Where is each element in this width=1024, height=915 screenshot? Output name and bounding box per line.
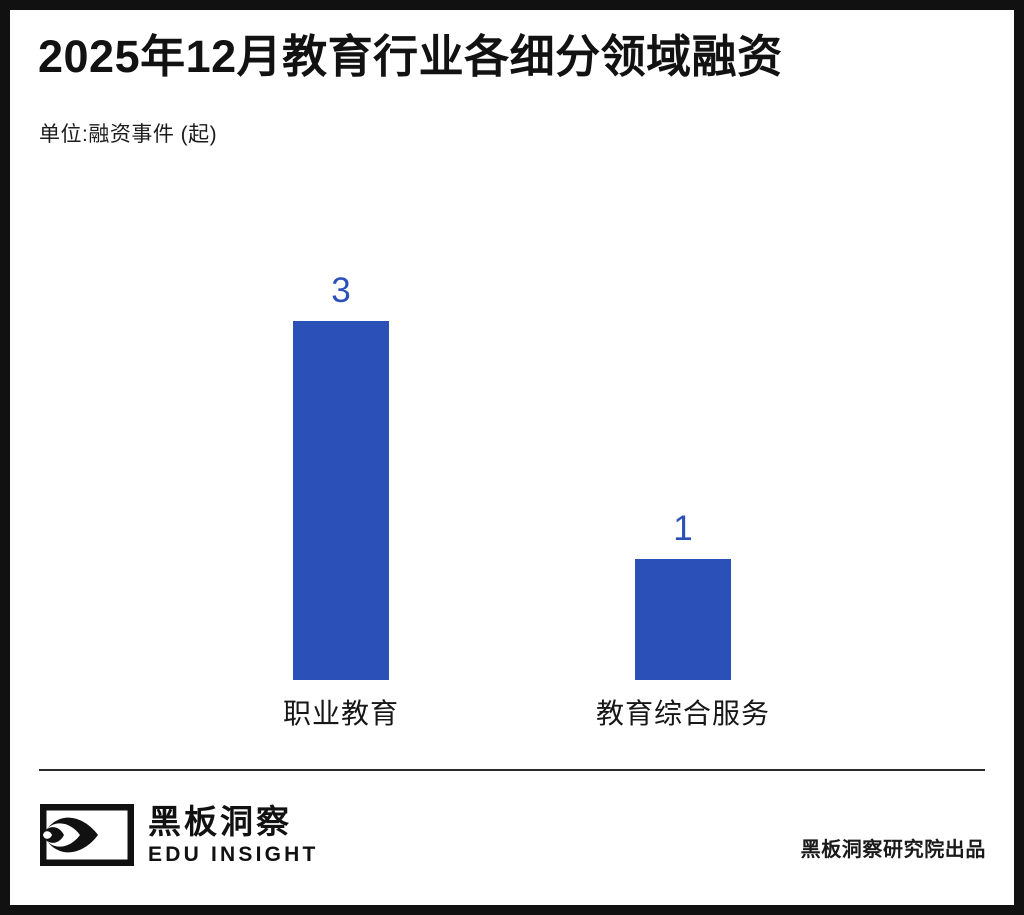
bar-value-label: 3 — [293, 273, 389, 308]
bar-rect — [635, 559, 731, 680]
bar-value-label: 1 — [635, 511, 731, 546]
bar-chart-plot-area: 3 职业教育 1 教育综合服务 — [10, 170, 1014, 680]
brand-name-cn: 黑板洞察 — [148, 803, 319, 842]
eye-in-rectangle-logo-icon — [40, 804, 134, 866]
brand-text: 黑板洞察 EDU INSIGHT — [148, 803, 319, 867]
category-label: 职业教育 — [218, 692, 464, 732]
category-label: 教育综合服务 — [560, 692, 806, 732]
brand-name-en: EDU INSIGHT — [148, 843, 319, 867]
infographic-frame: 2025年12月教育行业各细分领域融资 单位:融资事件 (起) 3 职业教育 1… — [0, 0, 1024, 915]
chart-unit-note: 单位:融资事件 (起) — [39, 118, 217, 148]
chart-canvas: 2025年12月教育行业各细分领域融资 单位:融资事件 (起) 3 职业教育 1… — [10, 10, 1014, 905]
bar-rect — [293, 321, 389, 680]
credit-line: 黑板洞察研究院出品 — [801, 833, 986, 862]
page-title: 2025年12月教育行业各细分领域融资 — [38, 33, 783, 80]
footer-divider — [39, 769, 985, 771]
brand-lockup: 黑板洞察 EDU INSIGHT — [40, 803, 319, 867]
footer: 黑板洞察 EDU INSIGHT 黑板洞察研究院出品 — [10, 785, 1014, 895]
